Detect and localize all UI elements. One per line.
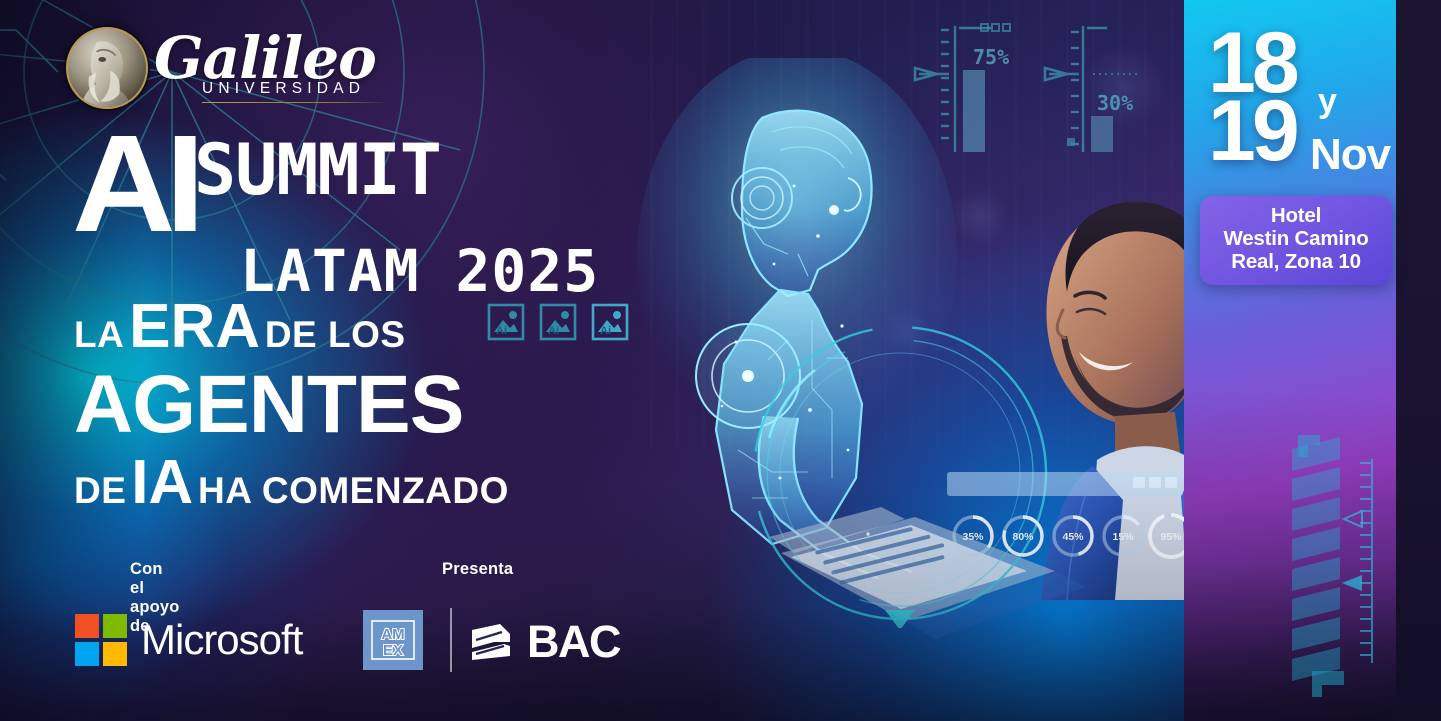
page-title: AI SUMMIT LATAM 2025 xyxy=(72,128,599,305)
title-summit: SUMMIT xyxy=(194,138,441,202)
title-latam: LATAM 2025 xyxy=(240,237,599,305)
logo-underline xyxy=(202,102,388,104)
title-ai: AI xyxy=(72,128,195,241)
decorative-stripes-scale xyxy=(1288,415,1408,715)
tagline-de: DE xyxy=(74,472,126,509)
venue-badge: Hotel Westin Camino Real, Zona 10 xyxy=(1200,196,1392,285)
microsoft-logo[interactable]: Microsoft xyxy=(75,614,302,666)
tagline-agentes: AGENTES xyxy=(74,364,463,446)
amex-line-2: EX xyxy=(383,642,403,659)
date-conjunction: y xyxy=(1318,82,1337,121)
tagline-la: LA xyxy=(74,316,124,353)
event-banner: 75% 30% Ai xyxy=(0,0,1441,721)
amex-line-1: AM xyxy=(381,626,404,643)
venue-line-2: Westin Camino xyxy=(1206,228,1386,251)
microsoft-wordmark: Microsoft xyxy=(141,616,302,664)
bac-logo[interactable]: BAC xyxy=(470,616,620,668)
tagline-de-los: DE LOS xyxy=(265,316,406,353)
microsoft-squares-icon xyxy=(75,614,127,666)
date-day-2: 19 xyxy=(1208,96,1296,167)
bac-wordmark: BAC xyxy=(527,616,620,668)
event-date: 18 y 19 Nov xyxy=(1194,18,1394,178)
amex-logo[interactable]: AM EX xyxy=(363,610,423,670)
galileo-university-logo[interactable]: Galileo UNIVERSIDAD xyxy=(66,27,388,109)
sponsor-divider xyxy=(450,608,452,672)
presenter-label: Presenta xyxy=(442,560,513,579)
galileo-bust-medallion xyxy=(66,27,148,109)
tagline-era: ERA xyxy=(129,296,260,358)
venue-line-3: Real, Zona 10 xyxy=(1206,251,1386,274)
venue-line-1: Hotel xyxy=(1206,205,1386,228)
date-month: Nov xyxy=(1310,130,1390,180)
tagline: LA ERA DE LOS AGENTES DE IA HA COMENZADO xyxy=(74,296,509,514)
logo-wordmark: Galileo xyxy=(154,33,388,84)
tagline-ia: IA xyxy=(131,452,193,514)
logo-subtitle: UNIVERSIDAD xyxy=(202,80,388,98)
tagline-ha-comenzado: HA COMENZADO xyxy=(198,472,509,509)
